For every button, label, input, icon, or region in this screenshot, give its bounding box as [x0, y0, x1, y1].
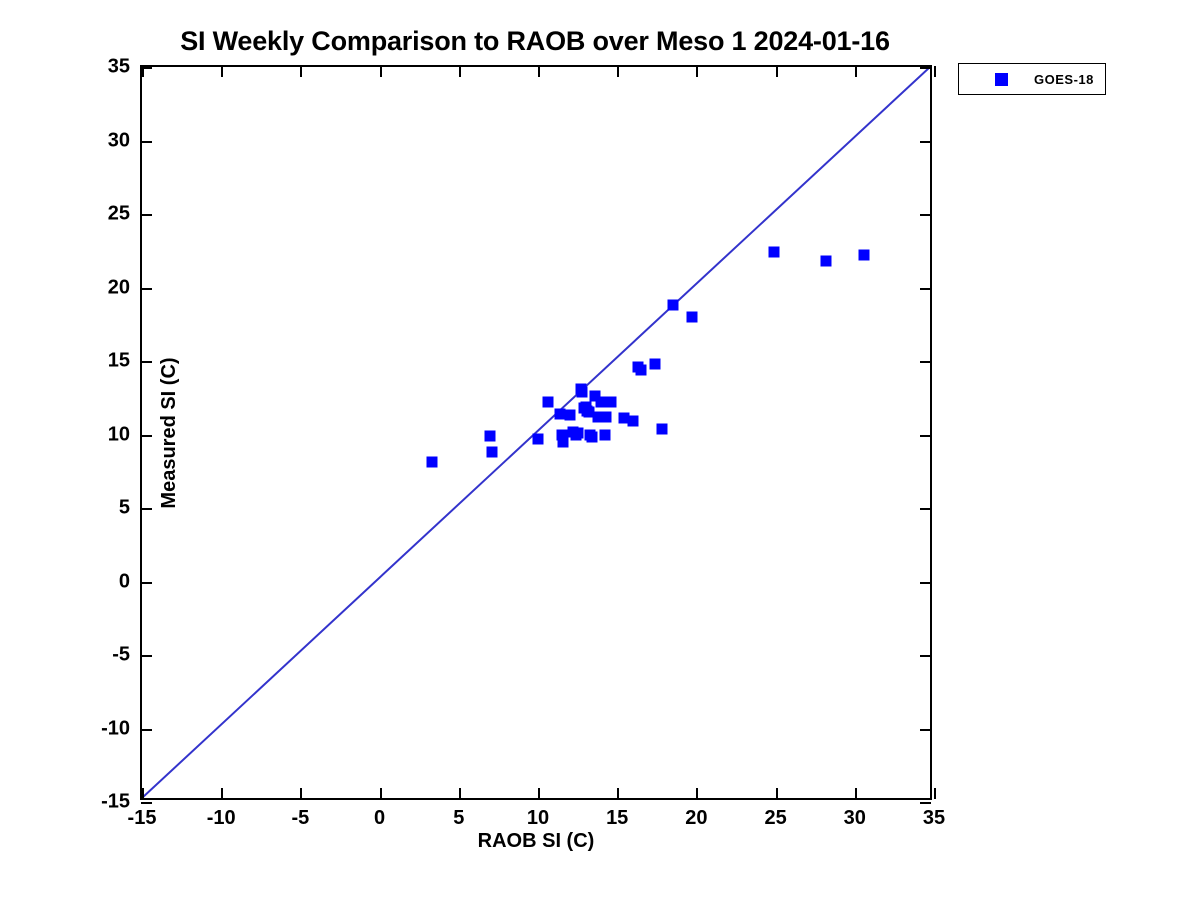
- x-axis-tick: [221, 66, 223, 77]
- y-axis-tick: [920, 508, 931, 510]
- y-axis-tick-label: -5: [112, 644, 130, 667]
- y-axis-tick: [920, 582, 931, 584]
- data-point: [586, 432, 597, 443]
- x-axis-tick: [300, 66, 302, 77]
- data-point: [599, 429, 610, 440]
- x-axis-tick: [459, 66, 461, 77]
- data-point: [542, 397, 553, 408]
- x-axis-tick-label: 30: [844, 807, 866, 830]
- data-point: [533, 433, 544, 444]
- data-point: [628, 416, 639, 427]
- y-axis-tick: [920, 435, 931, 437]
- y-axis-tick: [141, 582, 152, 584]
- y-axis-tick: [141, 141, 152, 143]
- chart-page: SI Weekly Comparison to RAOB over Meso 1…: [0, 0, 1200, 900]
- data-point: [577, 386, 588, 397]
- x-axis-tick: [776, 66, 778, 77]
- page-title: SI Weekly Comparison to RAOB over Meso 1…: [0, 26, 1070, 57]
- y-axis-tick-label: -10: [101, 717, 130, 740]
- y-axis-tick-label: 15: [108, 350, 130, 373]
- x-axis-tick: [696, 788, 698, 799]
- data-point: [601, 411, 612, 422]
- x-axis-tick-label: 0: [374, 807, 385, 830]
- data-point: [821, 256, 832, 267]
- x-axis-tick: [855, 66, 857, 77]
- data-point: [426, 457, 437, 468]
- y-axis-tick-label: 30: [108, 129, 130, 152]
- data-point: [485, 430, 496, 441]
- y-axis-tick-label: 0: [119, 570, 130, 593]
- x-axis-label: RAOB SI (C): [140, 830, 932, 853]
- x-axis-tick-label: 25: [764, 807, 786, 830]
- y-axis-tick-label: -15: [101, 791, 130, 814]
- x-axis-tick-label: 10: [527, 807, 549, 830]
- x-axis-tick: [380, 788, 382, 799]
- x-axis-tick: [617, 788, 619, 799]
- data-point: [558, 436, 569, 447]
- y-axis-tick: [920, 361, 931, 363]
- y-axis-tick: [141, 508, 152, 510]
- x-axis-tick-label: 20: [685, 807, 707, 830]
- legend-swatch-goes-18: [995, 73, 1008, 86]
- y-axis-tick: [141, 214, 152, 216]
- x-axis-tick-label: 5: [453, 807, 464, 830]
- x-axis-tick-label: -5: [291, 807, 309, 830]
- x-axis-tick-label: 35: [923, 807, 945, 830]
- x-axis-tick: [934, 788, 936, 799]
- data-point: [686, 311, 697, 322]
- y-axis-tick: [141, 802, 152, 804]
- plot-area: [142, 67, 930, 798]
- y-axis-tick-label: 5: [119, 497, 130, 520]
- y-axis-tick: [141, 655, 152, 657]
- y-axis-tick-label: 35: [108, 56, 130, 79]
- data-point: [650, 358, 661, 369]
- data-point: [605, 397, 616, 408]
- x-axis-tick: [300, 788, 302, 799]
- y-axis-tick: [920, 141, 931, 143]
- y-axis-tick: [920, 655, 931, 657]
- data-point: [656, 423, 667, 434]
- y-axis-tick: [920, 729, 931, 731]
- data-point: [769, 247, 780, 258]
- data-point: [859, 250, 870, 261]
- x-axis-tick: [380, 66, 382, 77]
- y-axis-tick-label: 25: [108, 203, 130, 226]
- plot-frame: Measured SI (C) -15-10-505101520253035-1…: [140, 65, 932, 800]
- legend: GOES-18: [958, 63, 1106, 95]
- x-axis-tick: [142, 66, 144, 77]
- x-axis-tick: [142, 788, 144, 799]
- x-axis-tick: [934, 66, 936, 77]
- x-axis-tick: [538, 788, 540, 799]
- x-axis-tick: [459, 788, 461, 799]
- y-axis-tick-label: 20: [108, 276, 130, 299]
- y-axis-tick: [920, 802, 931, 804]
- y-axis-tick: [141, 361, 152, 363]
- y-axis-tick: [920, 214, 931, 216]
- y-axis-tick: [920, 288, 931, 290]
- x-axis-tick: [617, 66, 619, 77]
- x-axis-tick: [221, 788, 223, 799]
- x-axis-tick: [855, 788, 857, 799]
- x-axis-tick-label: -15: [128, 807, 157, 830]
- x-axis-tick: [696, 66, 698, 77]
- y-axis-tick: [920, 67, 931, 69]
- y-axis-tick: [141, 729, 152, 731]
- y-axis-tick-label: 10: [108, 423, 130, 446]
- x-axis-tick-label: 15: [606, 807, 628, 830]
- x-axis-tick-label: -10: [207, 807, 236, 830]
- data-point: [572, 428, 583, 439]
- data-point: [564, 410, 575, 421]
- x-axis-tick: [776, 788, 778, 799]
- y-axis-tick: [141, 435, 152, 437]
- legend-label-goes-18: GOES-18: [1034, 72, 1094, 87]
- data-point: [635, 364, 646, 375]
- data-point: [667, 300, 678, 311]
- data-point: [487, 447, 498, 458]
- x-axis-tick: [538, 66, 540, 77]
- y-axis-tick: [141, 288, 152, 290]
